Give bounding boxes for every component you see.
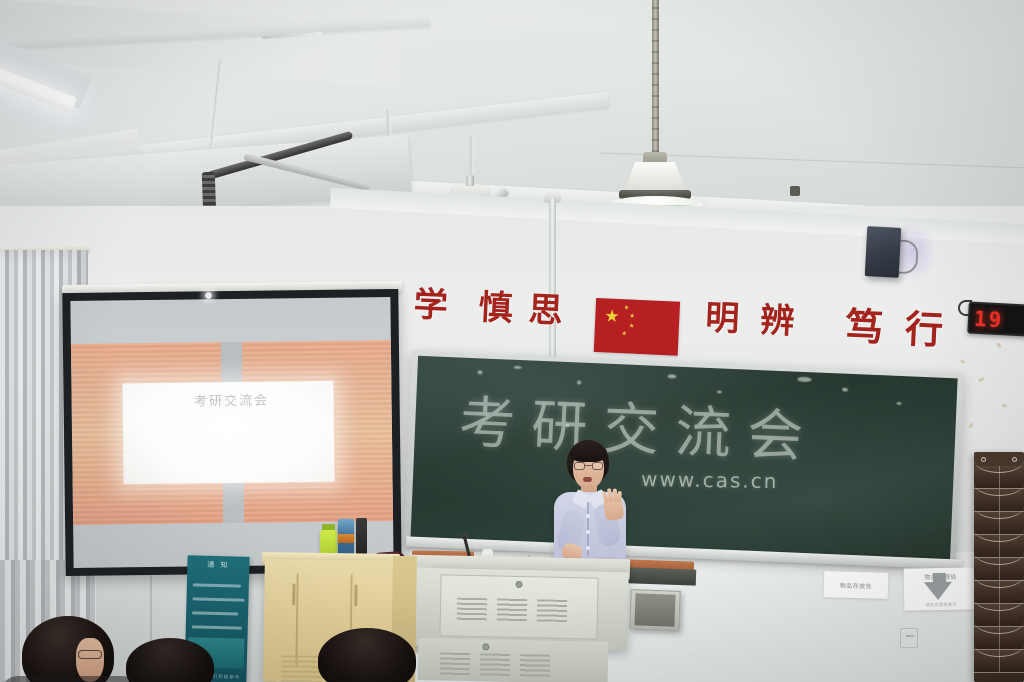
cabinet-handle[interactable]: [354, 584, 357, 606]
cabinet-handle[interactable]: [292, 583, 295, 605]
lecturer-glasses: [574, 462, 603, 470]
lectern-door[interactable]: [439, 574, 598, 639]
lectern-vent: [457, 598, 487, 623]
phone-pocket-organizer[interactable]: [974, 452, 1024, 682]
slogan-char: 辨: [760, 303, 796, 339]
slogan-char: 行: [904, 310, 944, 350]
classroom-scene: 考研交流会 学 慎 思 ★ ★ ★ ★ ★ 明 辨 笃 行 19 1: [0, 0, 1024, 682]
wall-notice-subtext: 请自觉摆放整齐: [904, 601, 978, 608]
flag-star: ★: [629, 323, 635, 329]
ceiling-conduit: [470, 136, 474, 180]
pendant-lamp-pipe: [652, 0, 659, 156]
lectern-vent: [537, 599, 567, 624]
lecturer-right-hand: [602, 495, 624, 521]
lectern-vent: [480, 653, 510, 678]
lecturer-shirt-button: [586, 546, 590, 550]
slogan-char: 思: [528, 293, 564, 329]
led-wall-clock: 19 1: [967, 301, 1024, 336]
lecturer-mouth: [583, 477, 592, 482]
slide-title: 考研交流会: [71, 388, 391, 411]
down-arrow-icon: [924, 582, 952, 600]
blackboard-headline: 考研交流会: [458, 378, 941, 479]
wall-power-outlet[interactable]: [900, 628, 918, 648]
wall-notice-management: 物品管理处 请自觉摆放整齐: [904, 567, 979, 610]
lecturer-shirt-button: [586, 514, 590, 518]
lectern-lock-icon[interactable]: [515, 581, 522, 588]
flag-star: ★: [604, 307, 620, 325]
projector-light-hotspot: [205, 292, 212, 299]
blackboard-url: www.cas.cn: [641, 467, 779, 493]
flag-star: ★: [624, 305, 630, 311]
flag-star: ★: [621, 331, 627, 337]
student-shoulder: [0, 676, 140, 682]
slogan-char: 笃: [844, 307, 884, 347]
lecturer-shirt-button: [586, 530, 590, 534]
lectern-base-lock-icon[interactable]: [482, 643, 489, 650]
organizer-pocket-row[interactable]: [974, 650, 1024, 673]
lectern-vent: [520, 654, 550, 679]
wall-speaker: [865, 226, 902, 278]
flag-star: ★: [629, 313, 635, 319]
flag-of-china-icon: ★ ★ ★ ★ ★: [594, 298, 680, 356]
drawer-interior: [634, 593, 675, 626]
thermos-label: [338, 534, 354, 543]
banner-title: 通 知: [187, 559, 249, 571]
lectern-open-drawer[interactable]: [629, 589, 680, 631]
blackboard-surface: 考研交流会 www.cas.cn: [410, 356, 957, 563]
ceiling-fixture-bolt: [790, 186, 800, 196]
cabinet-door-seam: [295, 574, 298, 668]
slogan-char: 慎: [478, 291, 514, 327]
blackboard[interactable]: 考研交流会 www.cas.cn: [404, 351, 964, 569]
lectern-vent: [497, 598, 527, 623]
lectern-base: [418, 638, 609, 682]
clock-digits: 19 1: [972, 307, 1024, 337]
cabinet-vent: [281, 655, 321, 682]
student-front-left-glasses: [78, 650, 102, 659]
slogan-char: 学: [413, 288, 449, 324]
wall-notice-storage: 物品存放处: [824, 571, 889, 599]
slogan-char: 明: [705, 301, 741, 337]
lectern-vent: [440, 652, 470, 677]
lecturer-hair-front: [570, 443, 607, 462]
